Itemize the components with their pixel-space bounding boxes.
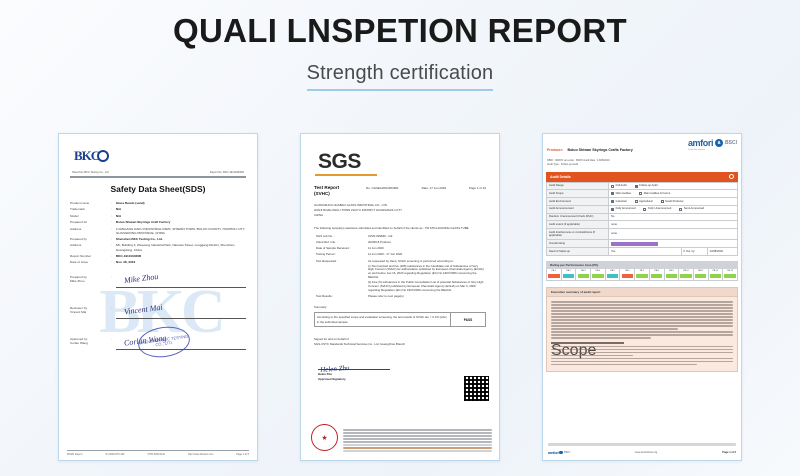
row-label: Audit Environment: [547, 198, 609, 206]
performance-area-cell: PA 5: [606, 269, 621, 280]
signature-row: Prepared by Mike Zhou : Mike Zhou: [68, 266, 248, 297]
performance-area-cell: PA 11: [694, 269, 709, 280]
signature-name: Vincent Mai: [70, 310, 86, 314]
row-options: Industrial Agricultural Small Producer: [609, 198, 738, 206]
checkbox-icon[interactable]: [635, 200, 638, 203]
checkbox-option[interactable]: Fully Announced: [611, 207, 635, 211]
followup-value: Yes: [609, 248, 681, 255]
sgs-date-label: Date:: [422, 186, 429, 190]
page-subtitle: Strength certification: [307, 62, 494, 91]
pa-rating-swatch: [563, 274, 574, 278]
signature-line: Vincent Mai: [116, 306, 246, 319]
pa-label: PA 7: [635, 270, 649, 272]
documents-row: BKC BKC Shenzhen BKC Testing Co., Ltd. R…: [0, 133, 800, 461]
row-options: Main Auditee Main Auditee & Farms: [609, 190, 738, 198]
producer-name: Boluo Shiwan Skyrings Crafts Factory: [567, 148, 632, 152]
table-row: Test Requested : As requested by client,…: [314, 258, 486, 294]
sds-field-table: Product name : Glass Beads (sand) Tradem…: [68, 200, 248, 359]
row-options: Full Audit Follow-up Audit: [609, 182, 738, 190]
checkbox-icon[interactable]: [611, 185, 614, 188]
footer-fax: 0755-32523141: [147, 453, 165, 456]
divider: [70, 176, 246, 178]
signature-role: Prepared by Mike Zhou: [68, 266, 109, 297]
company-stamp: SHENZHEN BKC TESTING CO., LTD.: [136, 323, 192, 360]
checkbox-icon[interactable]: [639, 192, 642, 195]
checkbox-label: Fully Announced: [616, 207, 636, 211]
signed-line: SGS-CSTC Standards Technical Services Co…: [314, 342, 486, 347]
table-row: Audit Interferences or contradictions (i…: [547, 228, 738, 239]
signature-area: Mike Zhou: [114, 266, 248, 297]
sgs-date: Date: 17 Jun 2020: [422, 186, 447, 190]
page-title: QUALI LNSPETION REPORT: [0, 14, 800, 49]
sds-header-company: Shenzhen BKC Testing Co., Ltd.: [72, 171, 109, 174]
pa-rating-swatch: [592, 274, 603, 278]
signature-area: Vincent Mai: [114, 297, 248, 328]
checkbox-label: Industrial: [616, 200, 627, 204]
overall-rating-bar: [611, 242, 658, 246]
bkc-logo-text: BKC: [74, 148, 99, 164]
handwritten-signature: Helen Zhu: [320, 354, 490, 374]
performance-area-cell: PA 6: [620, 269, 635, 280]
checkbox-icon-checked[interactable]: [611, 200, 614, 203]
performance-area-row: PA 1 PA 2 PA 3 PA 4 PA 5 PA 6 PA 7 PA 8 …: [546, 269, 738, 281]
page-header: QUALI LNSPETION REPORT Strength certific…: [0, 0, 800, 91]
sds-header-reportno: Report No. BKC-191103466R: [210, 171, 244, 174]
footer-page: Page 1 of 6: [236, 453, 249, 456]
table-row: Need of follow-up Yes If Yes, by: 13/08/…: [547, 248, 738, 256]
followup-extra-label: If Yes, by:: [681, 248, 707, 255]
pa-label: PA 10: [679, 270, 693, 272]
checkbox-label: Main Auditee: [616, 192, 632, 196]
performance-area-cell: PA 1: [547, 269, 562, 280]
checkbox-label: Small Producer: [665, 200, 683, 204]
checkbox-label: Semi Announced: [684, 207, 704, 211]
row-label: Audit Announcement: [547, 205, 609, 213]
sgs-report-no-label: No.: [366, 186, 371, 190]
pa-rating-swatch: [680, 274, 691, 278]
pa-label: PA 5: [606, 270, 620, 272]
bkc-ring-icon: [97, 150, 109, 162]
signature-role: Reviewer by Vincent Mai: [68, 297, 109, 328]
table-row: Audit Range Full Audit Follow-up Audit: [547, 182, 738, 190]
pa-label: PA 11: [694, 270, 708, 272]
sgs-summary-verdict: PASS: [451, 313, 485, 326]
pa-label: PA 13: [723, 270, 737, 272]
footer-left: MSDS Report: [67, 453, 82, 456]
sgs-summary-text: According to the specified scope and eva…: [315, 313, 451, 326]
row-label: Audit Scope: [547, 190, 609, 198]
exec-subhead: Scope: [551, 342, 624, 344]
amfori-tagline: Trade with purpose: [688, 149, 737, 151]
performance-area-cell: PA 9: [665, 269, 680, 280]
exec-summary-body: Scope: [546, 296, 738, 372]
field-label: Test Requested :: [314, 258, 366, 294]
row-label: Audit extent (if applicable): [547, 221, 609, 229]
checkbox-icon[interactable]: [643, 208, 646, 211]
table-row: Audit extent (if applicable) none: [547, 221, 738, 229]
performance-area-cell: PA 4: [591, 269, 606, 280]
pa-rating-swatch: [636, 274, 647, 278]
performance-area-cell: PA 8: [650, 269, 665, 280]
pa-rating-swatch: [724, 274, 735, 278]
performance-area-cell: PA 13: [723, 269, 737, 280]
checkbox-option[interactable]: Follow-up Audit: [635, 184, 658, 188]
section-header-exec-summary: Executive summary of audit report: [546, 287, 738, 296]
sgs-subtitle: (SVHC): [314, 191, 330, 196]
sgs-title-block: Test Report (SVHC): [314, 185, 366, 198]
sgs-client-address: GUANGZHOU HUABAO GLASS INDUSTRIAL CO., L…: [314, 203, 486, 217]
handwritten-signature: Mike Zhou: [123, 272, 158, 287]
field-label: Address: [68, 242, 109, 253]
table-row: Audit Environment Industrial Agricultura…: [547, 198, 738, 206]
pa-rating-swatch: [710, 274, 721, 278]
handwritten-signature: Vincent Mai: [123, 302, 163, 317]
table-row: Random Unannounced Check (RUC) No: [547, 213, 738, 221]
document-card-sgs[interactable]: SGS Test Report (SVHC) No. CANEC20042546…: [300, 133, 500, 461]
test-requested-intro: As requested by client, SVHC screening i…: [368, 260, 484, 264]
pa-rating-swatch: [666, 274, 677, 278]
checkbox-label: Main Auditee & Farms: [644, 192, 670, 196]
table-row: Address : 6/F, Building 3, Zhouteng Indu…: [68, 242, 248, 253]
amfori-logo-text: amfori: [688, 138, 713, 148]
row-label: Overall rating: [547, 240, 609, 248]
pa-label: PA 8: [650, 270, 664, 272]
followup-extra-value: 13/08/2020: [707, 248, 737, 255]
field-value: LUANGANG DAFU INDUSTRIAL PARK, SHIWAN TO…: [114, 225, 248, 236]
signature-role: Approved by Corlan Wang: [68, 328, 109, 359]
sds-title: Safety Data Sheet(SDS): [68, 184, 248, 194]
pa-label: PA 2: [562, 270, 576, 272]
bkc-logo: BKC: [74, 148, 248, 164]
pa-rating-swatch: [548, 274, 559, 278]
amfori-logo-text: amfori: [548, 450, 558, 455]
field-value: 6/F, Building 3, Zhouteng Industrial Par…: [114, 242, 248, 253]
checkbox-option[interactable]: Fully Unannounced: [643, 207, 671, 211]
amfori-logo: amfori a BSCI Trade with purpose: [688, 138, 737, 151]
producer-label: Producer:: [547, 148, 563, 152]
amfori-mark-text: BSCI: [725, 140, 737, 146]
address-line: CHINA: [314, 213, 486, 218]
field-value: Please refer to next page(s): [366, 294, 486, 300]
checkbox-label: Agricultural: [639, 200, 652, 204]
amfori-footer-logo: amfori BSCI: [548, 450, 570, 455]
pa-label: PA 12: [709, 270, 723, 272]
row-options: Fully Announced Fully Unannounced Semi A…: [609, 205, 738, 213]
checkbox-option[interactable]: Main Auditee: [611, 192, 631, 196]
bsci-producer-block: Producer: Boluo Shiwan Skyrings Crafts F…: [547, 138, 633, 167]
pa-rating-swatch: [622, 274, 633, 278]
pa-label: PA 4: [591, 270, 605, 272]
footer-page: Page 1 of 2: [722, 451, 736, 454]
checkbox-label: Full Audit: [616, 184, 627, 188]
pa-rating-swatch: [578, 274, 589, 278]
row-value: Yes If Yes, by: 13/08/2020: [609, 248, 738, 256]
audit-details-table: Audit Range Full Audit Follow-up Audit A…: [546, 182, 738, 256]
performance-area-cell: PA 7: [635, 269, 650, 280]
producer-meta: DBID : 382971 am-code : 38297 Audit Date…: [547, 159, 633, 167]
row-label: Need of follow-up: [547, 248, 609, 256]
sgs-summary-box: According to the specified scope and eva…: [314, 312, 486, 327]
checkbox-option[interactable]: Small Producer: [661, 200, 684, 204]
checkbox-option[interactable]: Full Audit: [611, 184, 627, 188]
signature-area: Corlan Wang SHENZHEN BKC TESTING CO., LT…: [114, 328, 248, 359]
table-row: Overall rating: [547, 240, 738, 248]
pa-label: PA 3: [576, 270, 590, 272]
pa-label: PA 6: [620, 270, 634, 272]
signature-name: Corlan Wang: [70, 341, 88, 345]
signature-role-label: Approved Signatory: [318, 377, 346, 381]
performance-area-cell: PA 10: [679, 269, 694, 280]
field-value: As requested by client, SVHC screening i…: [366, 258, 486, 294]
performance-area-cell: PA 2: [562, 269, 577, 280]
row-value: [609, 240, 738, 248]
sgs-summary-label: Summary:: [314, 305, 486, 309]
checkbox-icon-checked[interactable]: [611, 192, 614, 195]
red-star-stamp-icon: ★: [311, 424, 338, 451]
checkbox-icon-checked[interactable]: [611, 208, 614, 211]
sgs-signed-block: Signed for and on behalf of SGS-CSTC Sta…: [314, 337, 486, 346]
signature-line: Mike Zhou: [116, 275, 246, 288]
sgs-logo: SGS: [310, 144, 490, 176]
row-label: Random Unannounced Check (RUC): [547, 213, 609, 221]
row-value: none: [609, 228, 738, 239]
performance-area-cell: PA 3: [576, 269, 591, 280]
sgs-report-no: No. CANEC2004254601: [366, 186, 399, 190]
pa-label: PA 9: [665, 270, 679, 272]
checkbox-label: Fully Unannounced: [648, 207, 671, 211]
signature-name: Mike Zhou: [70, 279, 84, 283]
amfori-dot-icon: [559, 451, 563, 455]
checkbox-label: Follow-up Audit: [639, 184, 657, 188]
footer-web: http://www.bkctest.com: [188, 453, 214, 456]
pa-rating-swatch: [607, 274, 618, 278]
section-header-audit-details: Audit Details: [546, 172, 738, 182]
divider: [67, 450, 249, 451]
pa-rating-swatch: [695, 274, 706, 278]
table-row: Address : LUANGANG DAFU INDUSTRIAL PARK,…: [68, 225, 248, 236]
footer-url: www.amforibsci.org: [635, 451, 658, 454]
pa-label: PA 1: [547, 270, 561, 272]
sds-footer: MSDS Report Tel 4000-875-392 0755-325231…: [67, 450, 249, 456]
bsci-footer: amfori BSCI www.amforibsci.org Page 1 of…: [548, 443, 736, 455]
row-label: Audit Interferences or contradictions (i…: [547, 228, 609, 239]
document-card-bsci[interactable]: Producer: Boluo Shiwan Skyrings Crafts F…: [542, 133, 742, 461]
table-row: Test Results : Please refer to next page…: [314, 294, 486, 300]
pa-rating-swatch: [651, 274, 662, 278]
footer-tel: Tel 4000-875-392: [105, 453, 124, 456]
sgs-logo-text: SGS: [318, 150, 361, 174]
certification-page: QUALI LNSPETION REPORT Strength certific…: [0, 0, 800, 476]
table-row: Audit Scope Main Auditee Main Auditee & …: [547, 190, 738, 198]
test-requested-item: (ii) Five (5) substances in the Public C…: [368, 281, 484, 293]
row-label: Audit Range: [547, 182, 609, 190]
signature-row: Reviewer by Vincent Mai : Vincent Mai: [68, 297, 248, 328]
qr-code-icon: [463, 375, 490, 402]
info-circle-icon: [729, 174, 734, 179]
row-value: No: [609, 213, 738, 221]
field-label: Address: [68, 225, 109, 236]
producer-meta-line: Audit Type : Follow-up Audit: [547, 163, 633, 167]
checkbox-option[interactable]: Industrial: [611, 200, 627, 204]
test-requested-item: (i) Two hundred and five (205) substance…: [368, 265, 484, 281]
amfori-dot-icon: a: [715, 139, 723, 147]
sgs-date-value: 17 Jun 2020: [430, 186, 447, 190]
document-card-sds[interactable]: BKC BKC Shenzhen BKC Testing Co., Ltd. R…: [58, 133, 258, 461]
signature-row: Approved by Corlan Wang : Corlan Wang SH…: [68, 328, 248, 359]
checkbox-icon[interactable]: [661, 200, 664, 203]
performance-area-cell: PA 12: [709, 269, 724, 280]
signature-line: Corlan Wang SHENZHEN BKC TESTING CO., LT…: [116, 337, 246, 350]
sgs-page: Page 1 of 10: [469, 186, 486, 190]
sgs-underline: [315, 174, 377, 176]
checkbox-option[interactable]: Agricultural: [635, 200, 653, 204]
checkbox-icon-checked[interactable]: [635, 185, 638, 188]
divider: [548, 443, 736, 446]
table-row: Audit Announcement Fully Announced Fully…: [547, 205, 738, 213]
checkbox-option[interactable]: Semi Announced: [679, 207, 704, 211]
checkbox-icon[interactable]: [679, 208, 682, 211]
sgs-legal-text: [343, 428, 492, 453]
sgs-intro: The following sample(s) was/were submitt…: [314, 226, 486, 230]
sgs-report-no-value: CANEC2004254601: [372, 186, 399, 190]
sgs-field-table: SGS Job No. : CP20-029826 - GZ Client Re…: [314, 234, 486, 300]
section-header-rating: Rating per Performance Area (PA): [546, 261, 738, 269]
section-title: Audit Details: [550, 175, 571, 179]
sgs-title: Test Report: [314, 185, 339, 190]
amfori-mark-text: BSCI: [564, 451, 570, 454]
checkbox-option[interactable]: Main Auditee & Farms: [639, 192, 670, 196]
row-value: none: [609, 221, 738, 229]
field-label: Test Results :: [314, 294, 366, 300]
